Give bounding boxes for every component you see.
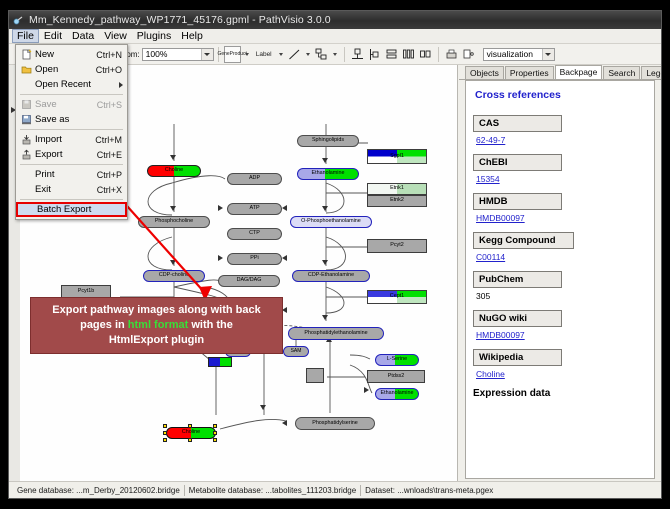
menu-separator (20, 164, 123, 165)
file-menu-exit[interactable]: Exit Ctrl+X (16, 182, 127, 197)
callout-highlight: html format (128, 319, 189, 331)
file-menu-open-recent[interactable]: Open Recent (16, 77, 127, 92)
file-menu-open-label: Open (35, 64, 96, 75)
callout-line3: HtmlExport plugin (109, 334, 204, 346)
callout-line2-b: with the (188, 319, 233, 331)
file-menu-export-accel: Ctrl+E (97, 150, 127, 160)
file-menu-import[interactable]: Import Ctrl+M (16, 132, 127, 147)
file-menu-export[interactable]: Export Ctrl+E (16, 147, 127, 162)
file-menu-print-accel: Ctrl+P (97, 170, 127, 180)
file-menu-save-label: Save (35, 99, 97, 110)
file-menu-dropdown[interactable]: New Ctrl+N Open Ctrl+O Open Recent Save … (15, 44, 128, 220)
open-folder-icon (18, 64, 35, 75)
save-as-icon (18, 114, 35, 125)
pathvisio-window: Mm_Kennedy_pathway_WP1771_45176.gpml - P… (8, 10, 662, 499)
save-disk-icon (18, 99, 35, 110)
menu-separator (20, 199, 123, 200)
file-menu-import-accel: Ctrl+M (95, 135, 127, 145)
file-menu-print[interactable]: Print Ctrl+P (16, 167, 127, 182)
file-menu-save-accel: Ctrl+S (97, 100, 127, 110)
submenu-arrow-icon (119, 82, 123, 88)
file-menu-new-accel: Ctrl+N (96, 50, 127, 60)
file-menu-new[interactable]: New Ctrl+N (16, 47, 127, 62)
import-icon (18, 134, 35, 145)
file-menu-save-as[interactable]: Save as (16, 112, 127, 127)
file-menu-import-label: Import (35, 134, 95, 145)
file-menu-open[interactable]: Open Ctrl+O (16, 62, 127, 77)
file-menu-exit-label: Exit (35, 184, 97, 195)
file-menu-batch-export[interactable]: Batch Export (16, 202, 127, 217)
file-menu-new-label: New (35, 49, 96, 60)
file-menu-open-recent-label: Open Recent (35, 79, 119, 90)
menu-separator (20, 94, 123, 95)
file-menu-save-as-label: Save as (35, 114, 122, 125)
new-document-icon (18, 49, 35, 60)
annotation-callout: Export pathway images along with back pa… (30, 297, 283, 354)
export-icon (18, 149, 35, 160)
menu-separator (20, 129, 123, 130)
file-menu-exit-accel: Ctrl+X (97, 185, 127, 195)
file-menu-export-label: Export (35, 149, 97, 160)
callout-line2-a: pages in (80, 319, 128, 331)
file-menu-print-label: Print (35, 169, 97, 180)
file-menu-batch-export-label: Batch Export (37, 204, 125, 215)
file-menu-save[interactable]: Save Ctrl+S (16, 97, 127, 112)
callout-line1: Export pathway images along with back (52, 304, 260, 316)
file-menu-open-accel: Ctrl+O (96, 65, 127, 75)
